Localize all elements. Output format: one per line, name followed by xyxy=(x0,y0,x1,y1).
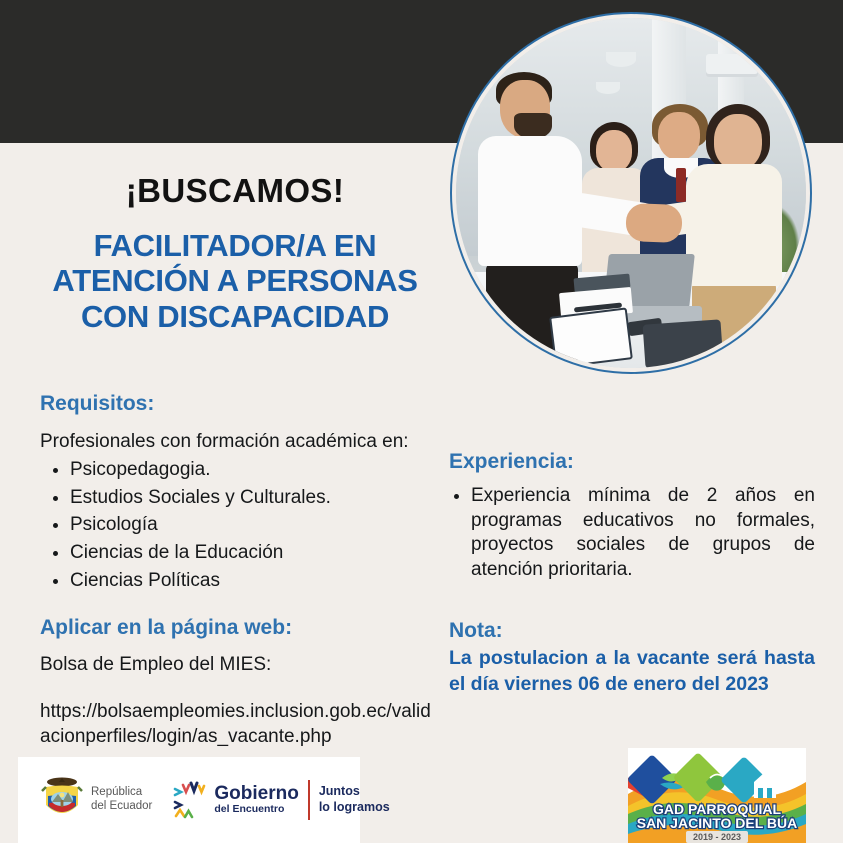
list-item: Ciencias Políticas xyxy=(70,567,438,595)
list-item: Psicología xyxy=(70,511,438,539)
gobierno-tagline: Juntos lo logramos xyxy=(319,784,390,815)
hero-kicker: ¡BUSCAMOS! xyxy=(0,172,470,210)
experiencia-list: Experiencia mínima de 2 años en programa… xyxy=(449,484,815,583)
photo-person-right-head xyxy=(714,114,762,170)
government-logos-card: República del Ecuador Gobierno del Encue… xyxy=(18,757,360,843)
job-posting-poster: GAD PARROQUIAL SAN JACINTO DEL BÚA xyxy=(0,0,843,843)
list-item: Ciencias de la Educación xyxy=(70,539,438,567)
gobierno-logo: Gobierno del Encuentro Juntos lo logramo… xyxy=(172,780,389,820)
ecuador-label-line-1: República xyxy=(91,786,152,800)
gad-logo-line-2: SAN JACINTO DEL BÚA xyxy=(637,814,798,831)
list-item: Psicopedagogia. xyxy=(70,456,438,484)
nota-body: La postulacion a la vacante será hasta e… xyxy=(449,645,815,698)
photo-person-back-man-tie xyxy=(676,168,686,202)
hero-photo-circle xyxy=(450,12,812,374)
job-title-line-3: CON DISCAPACIDAD xyxy=(0,299,470,334)
job-title-line-1: FACILITADOR/A EN xyxy=(0,228,470,263)
gobierno-tagline-line-1: Juntos xyxy=(319,784,390,800)
gobierno-sub-text: del Encuentro xyxy=(214,804,298,816)
application-url[interactable]: https://bolsaempleomies.inclusion.gob.ec… xyxy=(40,700,438,749)
ecuador-label: República del Ecuador xyxy=(91,786,152,814)
requisitos-list: Psicopedagogia. Estudios Sociales y Cult… xyxy=(40,456,438,594)
requirements-column: Requisitos: Profesionales con formación … xyxy=(40,392,438,749)
photo-ceiling-lamp xyxy=(606,52,636,67)
gobierno-main-text: Gobierno xyxy=(214,784,298,803)
experiencia-heading: Experiencia: xyxy=(449,450,815,474)
photo-handshake xyxy=(625,203,682,243)
ecuador-label-line-2: del Ecuador xyxy=(91,800,152,814)
nota-heading: Nota: xyxy=(449,619,815,643)
photo-person-back-man-head xyxy=(658,112,700,160)
requisitos-intro: Profesionales con formación académica en… xyxy=(40,430,438,454)
photo-ceiling-lamp xyxy=(596,82,620,94)
photo-clipboard xyxy=(549,307,633,368)
gobierno-tagline-line-2: lo logramos xyxy=(319,800,390,816)
list-item: Estudios Sociales y Culturales. xyxy=(70,484,438,512)
nota-block: Nota: La postulacion a la vacante será h… xyxy=(449,619,815,698)
gad-logo-years: 2019 - 2023 xyxy=(693,832,741,842)
hero-photo-image xyxy=(456,18,806,368)
list-item: Experiencia mínima de 2 años en programa… xyxy=(471,484,815,583)
photo-person-back-woman-head xyxy=(596,130,632,172)
job-title-line-2: ATENCIÓN A PERSONAS xyxy=(0,263,470,298)
photo-air-conditioner xyxy=(706,54,758,74)
aplicar-heading: Aplicar en la página web: xyxy=(40,616,438,640)
gobierno-divider xyxy=(308,780,310,820)
job-title: FACILITADOR/A EN ATENCIÓN A PERSONAS CON… xyxy=(0,228,470,334)
gobierno-chevrons-icon xyxy=(172,780,212,820)
gobierno-wordmark: Gobierno del Encuentro xyxy=(214,784,298,816)
experience-column: Experiencia: Experiencia mínima de 2 año… xyxy=(449,450,815,697)
gad-parroquial-logo: GAD PARROQUIAL SAN JACINTO DEL BÚA 2019 … xyxy=(628,748,806,843)
ecuador-coat-of-arms-icon xyxy=(40,775,84,825)
photo-tablet xyxy=(643,319,724,368)
requisitos-heading: Requisitos: xyxy=(40,392,438,416)
aplicar-subtitle: Bolsa de Empleo del MIES: xyxy=(40,654,438,676)
